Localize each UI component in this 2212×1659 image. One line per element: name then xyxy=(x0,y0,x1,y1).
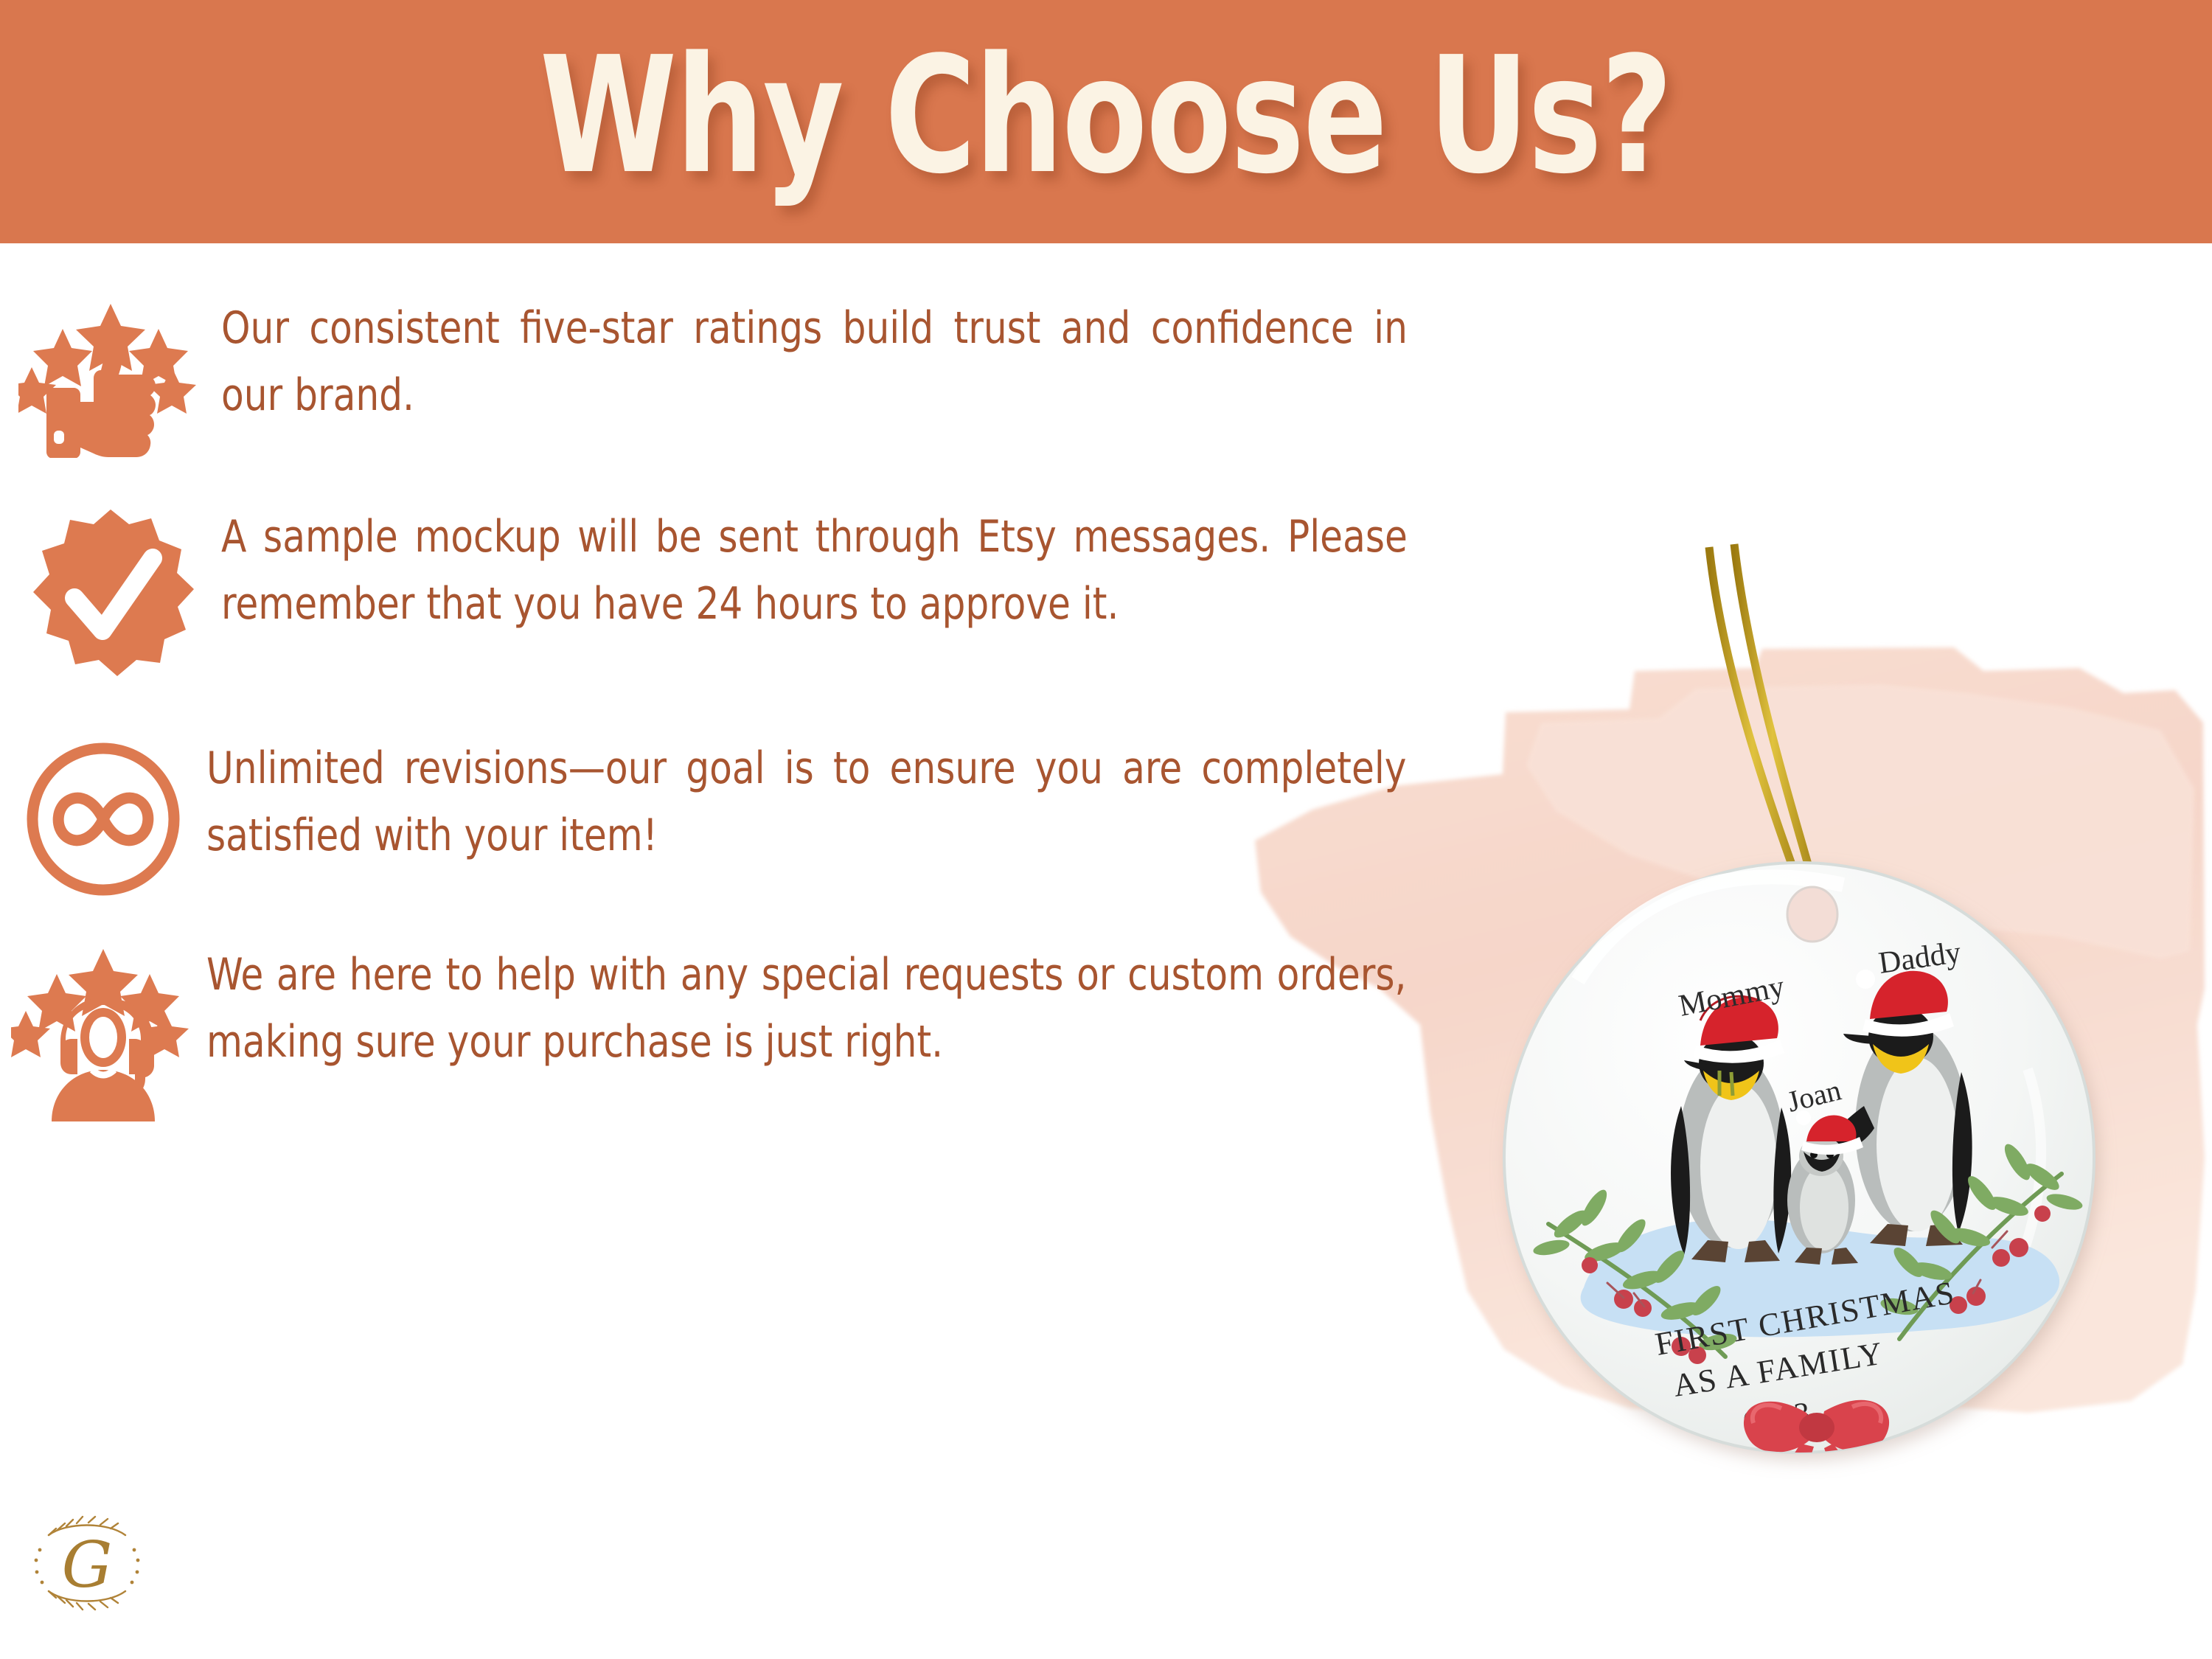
benefit-item-mockup: A sample mockup will be sent through Ets… xyxy=(0,504,1512,692)
benefits-list: Our consistent five-star ratings build t… xyxy=(0,295,1512,1159)
red-bow xyxy=(1744,1400,1901,1512)
ornament-product-image: Mommy Daddy Joan xyxy=(1460,538,2138,1512)
benefit-text-mockup: A sample mockup will be sent through Ets… xyxy=(221,504,1422,638)
verified-badge-check-icon xyxy=(0,504,221,692)
logo-monogram: G xyxy=(62,1528,113,1602)
ornament-gold-cord xyxy=(1709,544,1820,905)
thumbs-up-five-stars-icon xyxy=(0,295,221,458)
page-title: Why Choose Us? xyxy=(540,36,1672,207)
infinity-circle-icon xyxy=(0,735,206,899)
benefit-text-support: We are here to help with any special req… xyxy=(206,942,1420,1076)
benefit-item-support: We are here to help with any special req… xyxy=(0,942,1512,1127)
benefit-text-ratings: Our consistent five-star ratings build t… xyxy=(221,295,1422,429)
benefit-text-revisions: Unlimited revisions—our goal is to ensur… xyxy=(206,735,1420,869)
brand-logo: G xyxy=(28,1504,146,1622)
header-banner: Why Choose Us? xyxy=(0,0,2212,243)
benefit-item-ratings: Our consistent five-star ratings build t… xyxy=(0,295,1512,458)
support-agent-headset-stars-icon xyxy=(0,942,206,1127)
benefit-item-revisions: Unlimited revisions—our goal is to ensur… xyxy=(0,735,1512,899)
